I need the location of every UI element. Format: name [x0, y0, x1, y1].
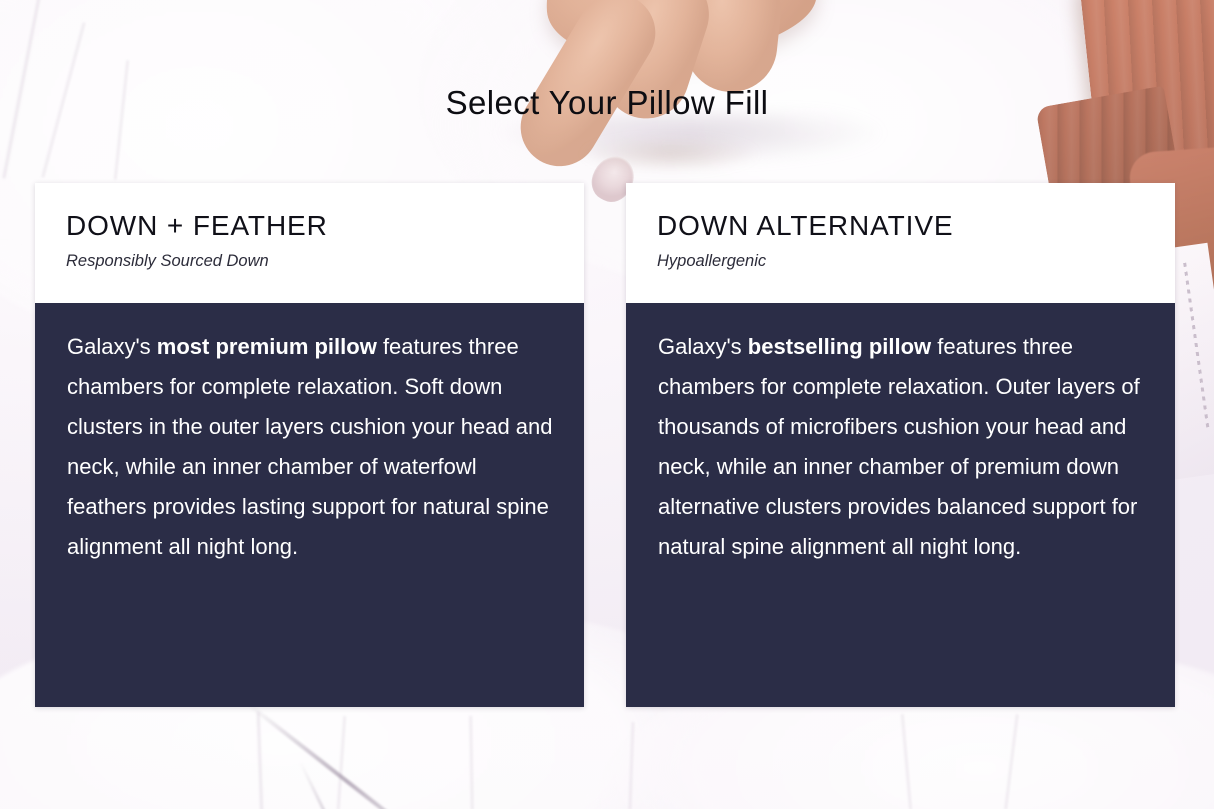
card-header: DOWN ALTERNATIVE Hypoallergenic	[626, 183, 1175, 303]
pillow-option-cards: DOWN + FEATHER Responsibly Sourced Down …	[35, 183, 1178, 707]
card-description: Galaxy's bestselling pillow features thr…	[626, 303, 1175, 707]
card-subtitle: Hypoallergenic	[657, 249, 1145, 273]
page-title: Select Your Pillow Fill	[0, 83, 1214, 123]
card-description: Galaxy's most premium pillow features th…	[35, 303, 584, 707]
pillow-option-card-down-feather[interactable]: DOWN + FEATHER Responsibly Sourced Down …	[35, 183, 584, 707]
pillow-option-card-down-alternative[interactable]: DOWN ALTERNATIVE Hypoallergenic Galaxy's…	[626, 183, 1175, 707]
card-header: DOWN + FEATHER Responsibly Sourced Down	[35, 183, 584, 303]
card-subtitle: Responsibly Sourced Down	[66, 249, 554, 273]
pillow-fill-selector: Select Your Pillow Fill DOWN + FEATHER R…	[0, 0, 1214, 809]
card-title: DOWN + FEATHER	[66, 209, 554, 243]
card-title: DOWN ALTERNATIVE	[657, 209, 1145, 243]
